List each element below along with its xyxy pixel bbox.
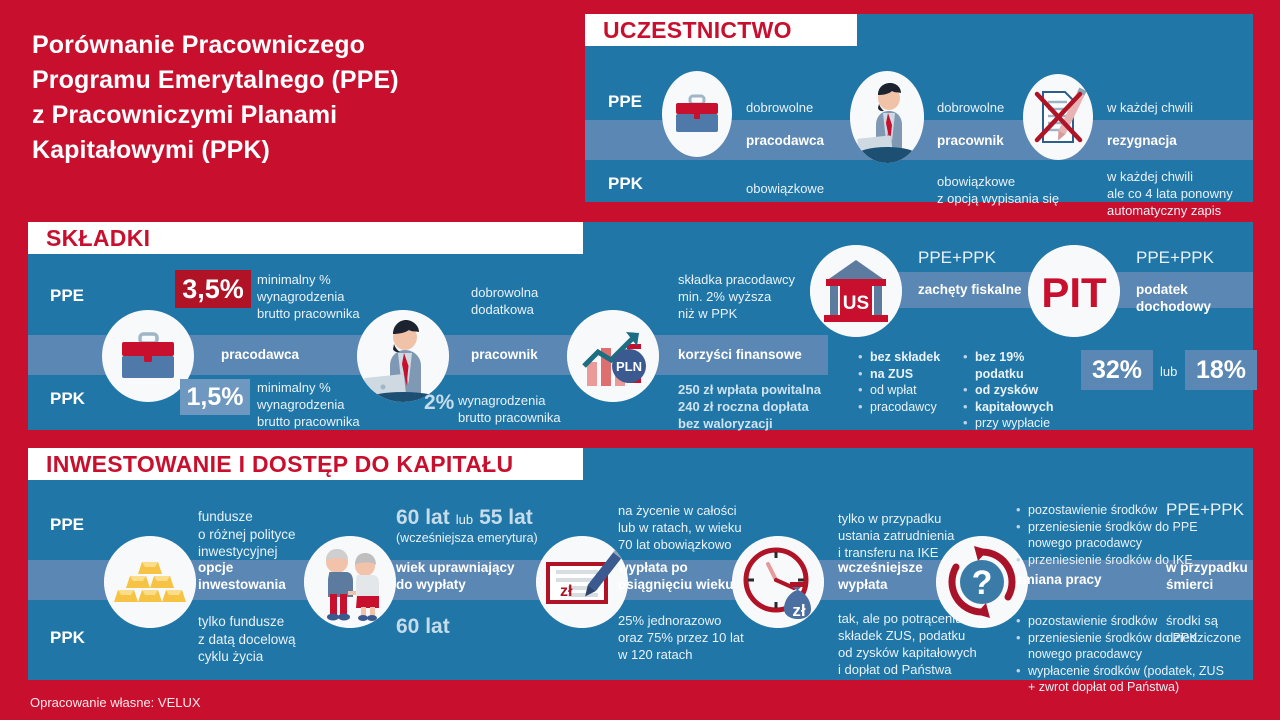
cancelled-document-icon (1023, 74, 1093, 160)
employee-laptop-icon (850, 71, 924, 163)
inwestowanie-c4-caption: wcześniejsze wypłata (838, 560, 923, 594)
title-line-b: Programu Emerytalnego (PPE) (32, 63, 562, 98)
list-item: bez składek (858, 349, 948, 366)
svg-text:zł: zł (792, 601, 806, 620)
list-item: bez 19% podatku (963, 349, 1073, 382)
pit-icon: PIT (1028, 245, 1120, 337)
bullet-text: na ZUS (870, 367, 913, 381)
footer-credit: Opracowanie własne: VELUX (30, 695, 201, 710)
section-inwestowanie-header: INWESTOWANIE I DOSTĘP DO KAPITAŁU (28, 448, 583, 480)
skladki-c1-caption: pracodawca (221, 347, 299, 364)
tax-office-icon: US (810, 245, 902, 337)
skladki-tax-rate-b: 18% (1185, 350, 1257, 390)
inwestowanie-c3-ppk: 25% jednorazowo oraz 75% przez 10 lat w … (618, 613, 744, 664)
skladki-ppe-employer-value: 3,5% (175, 270, 251, 308)
inwestowanie-c1-ppk: tylko fundusze z datą docelową cyklu życ… (198, 613, 296, 666)
section-uczestnictwo-header: UCZESTNICTWO (585, 14, 857, 46)
bullet-text: od wpłat (870, 383, 917, 397)
title-line-c: z Pracowniczymi Planami (32, 98, 562, 133)
skladki-c4-bullets-right: bez 19% podatku od zysków kapitałowych p… (963, 349, 1073, 432)
inwestowanie-c1-ppe: fundusze o różnej polityce inwestycyjnej (198, 508, 296, 561)
skladki-row-label-ppe: PPE (50, 286, 84, 306)
inwestowanie-c6-caption: w przypadku śmierci (1166, 560, 1248, 594)
inwestowanie-c2-ppk-value: 60 lat (396, 613, 450, 640)
inwestowanie-c2-ppe-value: 60 lat (396, 504, 450, 531)
list-item: wypłacenie środków (podatek, ZUS + zwrot… (1016, 663, 1231, 696)
skladki-tax-sep: lub (1160, 364, 1177, 381)
growth-chart-pln-icon: PLN (567, 310, 659, 402)
skladki-ppe-benefit-note: składka pracodawcy min. 2% wyższa niż w … (678, 272, 795, 323)
gold-bars-icon (104, 536, 196, 628)
page-title: Porównanie Pracowniczego Programu Emeryt… (32, 28, 562, 168)
title-line-d: Kapitałowymi (PPK) (32, 133, 562, 168)
skladki-tax-rate-a: 32% (1081, 350, 1153, 390)
uczestnictwo-c1-caption: pracodawca (746, 133, 824, 150)
inwestowanie-c2-ppe-sep: lub (456, 512, 473, 529)
list-item-cont2: kapitałowych (963, 399, 1073, 416)
inwestowanie-row-label-ppk: PPK (50, 628, 85, 648)
uczestnictwo-c3-ppk: w każdej chwili ale co 4 lata ponowny au… (1107, 169, 1233, 220)
uczestnictwo-row-label-ppe: PPE (608, 92, 642, 112)
bullet-text: bez 19% podatku (975, 350, 1024, 381)
uczestnictwo-c2-ppe: dobrowolne (937, 100, 1004, 117)
list-item-cont2: od wpłat (858, 382, 948, 399)
inwestowanie-c2-ppe-note: (wcześniejsza emerytura) (396, 530, 538, 546)
inwestowanie-row-label-ppe: PPE (50, 515, 84, 535)
inwestowanie-c4-ppe: tylko w przypadku ustania zatrudnienia i… (838, 511, 954, 562)
bullet-text: bez składek (870, 350, 940, 364)
skladki-c5-header: PPE+PPK (1136, 248, 1214, 268)
inwestowanie-c1-caption: opcje inwestowania (198, 560, 286, 594)
section-inwestowanie-title: INWESTOWANIE I DOSTĘP DO KAPITAŁU (46, 451, 513, 478)
inwestowanie-c3-caption: wypłata po osiągnięciu wieku (618, 560, 734, 594)
section-skladki: SKŁADKI PPE PPK 3,5% minimalny % wynagro… (28, 222, 1253, 430)
clock-money-bag-icon: zł (732, 536, 824, 628)
uczestnictwo-c2-caption: pracownik (937, 133, 1004, 150)
inwestowanie-c2-ppe-value2: 55 lat (479, 504, 533, 531)
list-item-cont: od zysków (963, 382, 1073, 399)
skladki-c4-bullets-left: bez składek .na ZUS od wpłat pracodawcy (858, 349, 948, 415)
bullet-text: od zysków (975, 383, 1038, 397)
question-cycle-icon: ? (936, 536, 1028, 628)
uczestnictwo-c1-ppk: obowiązkowe (746, 181, 824, 198)
uczestnictwo-c2-ppk: obowiązkowe z opcją wypisania się (937, 174, 1059, 208)
skladki-ppk-benefit-note: 250 zł wpłata powitalna 240 zł roczna do… (678, 382, 821, 433)
skladki-ppk-employer-value: 1,5% (180, 379, 250, 415)
list-item: przeniesienie środków do PPE nowego prac… (1016, 519, 1226, 552)
bullet-text: przy wypłacie (975, 416, 1050, 430)
uczestnictwo-c3-caption: rezygnacja (1107, 133, 1177, 150)
section-inwestowanie: INWESTOWANIE I DOSTĘP DO KAPITAŁU PPE PP… (28, 448, 1253, 680)
uczestnictwo-c3-ppe: w każdej chwili (1107, 100, 1193, 117)
svg-text:PIT: PIT (1041, 269, 1107, 316)
list-item-cont: .na ZUS (858, 366, 948, 383)
section-skladki-header: SKŁADKI (28, 222, 583, 254)
section-uczestnictwo: UCZESTNICTWO PPE PPK dobrowolne pracodaw… (585, 14, 1253, 202)
inwestowanie-c6-header: PPE+PPK (1166, 500, 1244, 520)
skladki-ppe-employee-note: dobrowolna dodatkowa (471, 285, 538, 319)
section-skladki-title: SKŁADKI (46, 225, 150, 252)
skladki-ppe-employer-note: minimalny % wynagrodzenia brutto pracown… (257, 272, 360, 323)
skladki-ppk-employer-note: minimalny % wynagrodzenia brutto pracown… (257, 380, 360, 431)
skladki-c2-caption: pracownik (471, 347, 538, 364)
skladki-c5-caption: podatek dochodowy (1136, 282, 1253, 316)
skladki-c4-caption: zachęty fiskalne (918, 282, 1022, 299)
skladki-row-label-ppk: PPK (50, 389, 85, 409)
inwestowanie-c2-caption: wiek uprawniający do wypłaty (396, 560, 515, 594)
skladki-ppk-employee-value: 2% (424, 389, 454, 416)
inwestowanie-c3-ppe: na życenie w całości lub w ratach, w wie… (618, 503, 742, 554)
skladki-ppk-employee-note: wynagrodzenia brutto pracownika (458, 393, 561, 427)
inwestowanie-c5-caption: zmiana pracy (1016, 572, 1102, 589)
svg-text:zł: zł (560, 583, 573, 600)
elderly-couple-icon (304, 536, 396, 628)
briefcase-icon (662, 71, 732, 157)
inwestowanie-c6-ppk: środki są dziedziczone (1166, 613, 1241, 647)
cheque-zl-icon: zł (536, 536, 628, 628)
skladki-c4-header: PPE+PPK (918, 248, 996, 268)
bullet-text: kapitałowych (975, 400, 1054, 414)
inwestowanie-c4-ppk: tak, ale po potrąceniu składek ZUS, poda… (838, 611, 977, 679)
section-uczestnictwo-title: UCZESTNICTWO (603, 17, 792, 44)
infographic-root: Porównanie Pracowniczego Programu Emeryt… (0, 0, 1280, 720)
uczestnictwo-c1-ppe: dobrowolne (746, 100, 813, 117)
title-line-a: Porównanie Pracowniczego (32, 28, 562, 63)
skladki-c3-caption: korzyści finansowe (678, 347, 802, 364)
uczestnictwo-row-label-ppk: PPK (608, 174, 643, 194)
list-item-cont3: przy wypłacie (963, 415, 1073, 432)
svg-text:US: US (843, 293, 869, 314)
bullet-text: pracodawcy (870, 400, 937, 414)
list-item-cont3: pracodawcy (858, 399, 948, 416)
svg-text:PLN: PLN (616, 359, 642, 374)
svg-text:?: ? (972, 564, 993, 602)
inwestowanie-c2-ppe-row: 60 lat lub 55 lat (396, 504, 533, 531)
